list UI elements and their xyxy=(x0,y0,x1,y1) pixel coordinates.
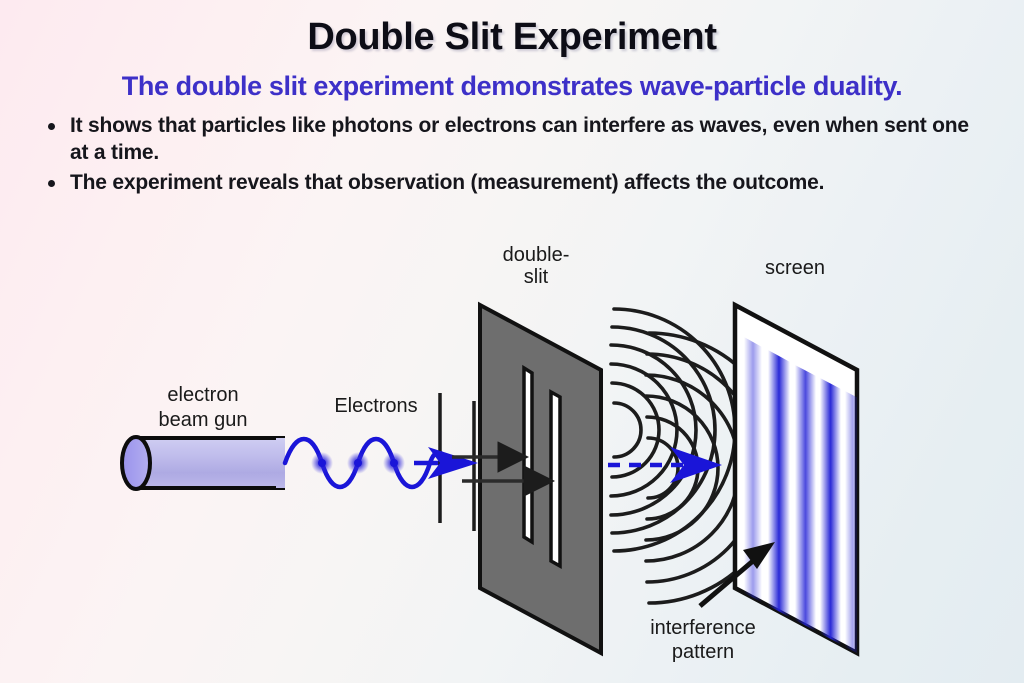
page-subtitle: The double slit experiment demonstrates … xyxy=(0,72,1024,102)
double-slit-barrier xyxy=(480,305,601,653)
infographic-page: Double Slit Experiment The double slit e… xyxy=(0,0,1024,683)
electron-wave-packet xyxy=(285,439,452,487)
gun-aperture-cap xyxy=(122,437,150,489)
fringe-4 xyxy=(820,378,841,646)
fringe-2 xyxy=(768,350,790,619)
detection-screen xyxy=(735,305,860,655)
page-title: Double Slit Experiment xyxy=(0,18,1024,58)
electrons-label: Electrons xyxy=(334,395,417,417)
wave-arc xyxy=(614,403,641,457)
electron-dot-core xyxy=(354,459,362,467)
electron-dot-core xyxy=(390,459,398,467)
electron-dot-core xyxy=(318,459,326,467)
list-item: It shows that particles like photons or … xyxy=(40,112,984,167)
wave-arc xyxy=(614,309,735,551)
screen-label: screen xyxy=(765,257,825,279)
electron-gun-label-line1: electron xyxy=(167,384,238,406)
fringe-3 xyxy=(795,365,816,633)
interference-label-line2: pattern xyxy=(672,641,734,663)
slit-one xyxy=(524,368,532,542)
slit-two xyxy=(551,392,560,566)
electron-gun-label-line2: beam gun xyxy=(159,409,248,431)
electron-beam-gun xyxy=(122,437,285,489)
wave-arc xyxy=(612,327,715,533)
double-slit-label-line1: double- xyxy=(503,244,570,266)
interference-label-line1: interference xyxy=(650,617,756,639)
list-item: The experiment reveals that observation … xyxy=(40,169,984,197)
bullet-list: It shows that particles like photons or … xyxy=(40,112,984,197)
experiment-diagram: electron beam gun Electrons double- slit… xyxy=(0,225,1024,683)
header-block: Double Slit Experiment The double slit e… xyxy=(0,0,1024,199)
double-slit-label-line2: slit xyxy=(524,266,549,288)
